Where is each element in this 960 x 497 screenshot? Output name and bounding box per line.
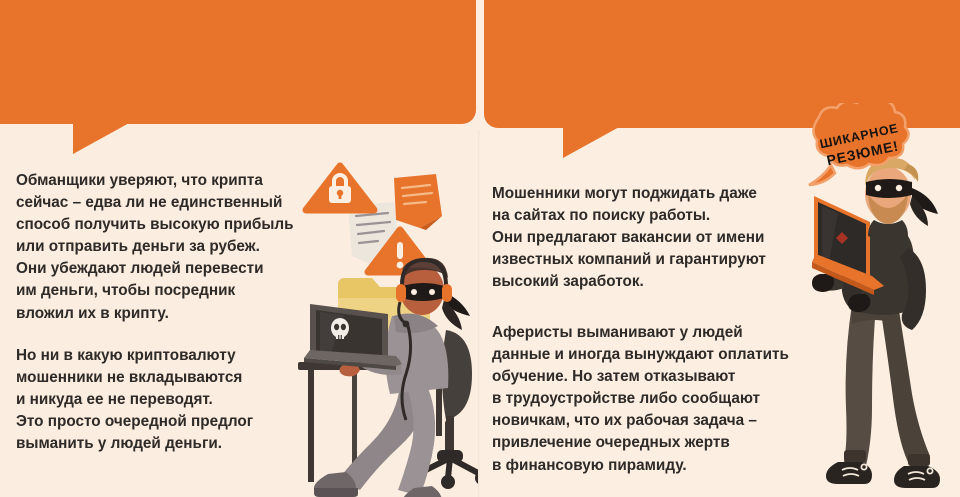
- panel-crypto: КУПИМ ДЛЯ ВАС КРИПТОВАЛЮТУ Обманщики уве…: [0, 0, 480, 497]
- speech-bubble-left: [0, 0, 476, 124]
- panel-divider: [478, 130, 481, 497]
- left-paragraph-2: Но ни в какую криптовалюту мошенники не …: [16, 345, 316, 455]
- right-paragraph-2: Аферисты выманивают у людей данные и ино…: [492, 322, 822, 477]
- sneakers: [826, 450, 940, 488]
- speech-bubble-tail-left: [73, 122, 131, 154]
- left-paragraph-1: Обманщики уверяют, что крипта сейчас – е…: [16, 170, 336, 325]
- speech-bubble-tail-right: [563, 126, 621, 158]
- masked-man-with-laptop-illustration: [812, 136, 960, 497]
- orange-document-icon: [394, 174, 442, 230]
- trousers: [842, 300, 930, 474]
- infographic-canvas: КУПИМ ДЛЯ ВАС КРИПТОВАЛЮТУ Обманщики уве…: [0, 0, 960, 497]
- resume-badge-bubble: ШИКАРНОЕ РЕЗЮМЕ!: [797, 103, 925, 187]
- right-paragraph-1: Мошенники могут поджидать даже на сайтах…: [492, 183, 822, 293]
